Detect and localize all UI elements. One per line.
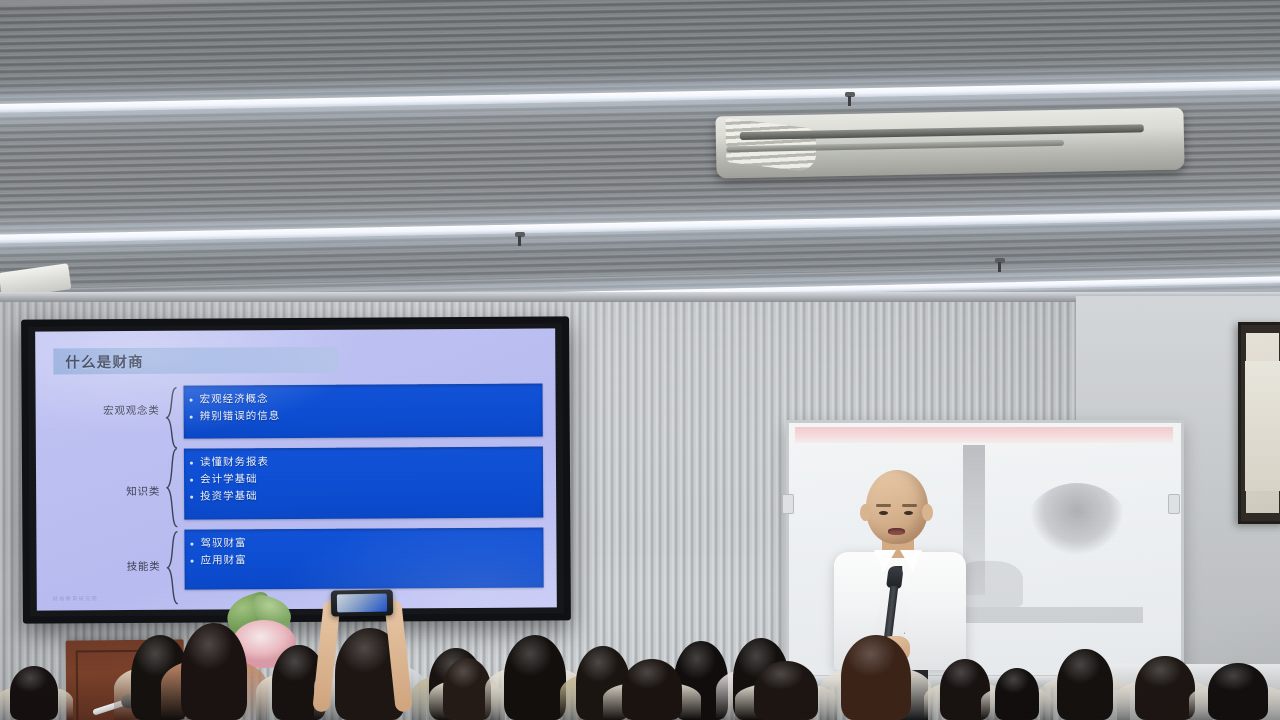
audience — [0, 560, 1280, 720]
whiteboard-clip-right — [1168, 494, 1180, 514]
attendee-hair — [181, 623, 247, 720]
slide-title-text: 什么是财商 — [53, 350, 144, 372]
presenter-eye-right — [904, 511, 913, 515]
slide-group-label-2: 知识类 — [64, 484, 160, 500]
attendee-hair — [995, 668, 1040, 720]
bullet-item: 驾驭财富 — [200, 533, 543, 552]
sprinkler-head-icon-3 — [995, 258, 1005, 272]
slide-bullets-1: 宏观经济概念 辨别错误的信息 — [183, 383, 542, 431]
slide-title-bar: 什么是财商 — [53, 347, 338, 375]
smartphone[interactable] — [331, 589, 393, 616]
lecture-hall-photo: 什么是财商 宏观观念类 宏观经济概念 辨别错误的信息 知识类 读懂财务报表 — [0, 0, 1280, 720]
brace-icon-2 — [166, 448, 179, 528]
attendee-15 — [1046, 634, 1124, 720]
presenter-mouth — [888, 528, 905, 535]
attendee-hair — [622, 659, 682, 720]
smartphone-screen — [337, 594, 387, 613]
slide-content-box-1: 宏观经济概念 辨别错误的信息 — [183, 383, 542, 438]
attendee-hair — [841, 635, 910, 720]
slide-group-label-1: 宏观观念类 — [64, 403, 160, 419]
presenter-ear-right — [922, 504, 933, 521]
attendee-hair — [1208, 663, 1268, 720]
bullet-item: 读懂财务报表 — [200, 452, 543, 471]
attendee-2 — [168, 602, 260, 720]
projection-pink-band — [795, 427, 1173, 443]
attendee-17 — [1196, 650, 1280, 720]
presenter-eye-left — [879, 511, 888, 515]
framed-picture — [1238, 322, 1280, 524]
attendee-hair — [1057, 649, 1113, 720]
attendee-10 — [610, 646, 694, 720]
attendee-11 — [742, 648, 830, 720]
attendee-12 — [828, 616, 924, 720]
slide-content-box-2: 读懂财务报表 会计学基础 投资学基础 — [184, 446, 543, 519]
attendee-hair — [754, 661, 817, 720]
picture-artwork — [1245, 361, 1280, 491]
brace-icon-1 — [165, 387, 178, 449]
presenter-brow-right — [902, 504, 917, 507]
ceiling — [0, 0, 1280, 300]
attendee-hair — [10, 666, 59, 720]
slide-bullets-2: 读懂财务报表 会计学基础 投资学基础 — [184, 446, 543, 511]
bullet-item: 会计学基础 — [200, 469, 543, 488]
attendee-hair — [443, 658, 491, 720]
attendee-14 — [986, 656, 1048, 720]
attendee-hair — [504, 635, 566, 720]
presenter-ear-left — [860, 504, 871, 521]
bullet-item: 投资学基础 — [200, 486, 543, 505]
bullet-item: 辨别错误的信息 — [200, 406, 543, 425]
attendee-18 — [0, 654, 68, 720]
bullet-item: 宏观经济概念 — [200, 389, 543, 408]
whiteboard-clip-left — [782, 494, 794, 514]
attendee-hair — [1135, 656, 1194, 720]
presenter-brow-left — [876, 504, 891, 507]
sprinkler-head-icon-1 — [845, 92, 855, 106]
sprinkler-head-icon-2 — [515, 232, 525, 246]
ceiling-air-conditioner — [715, 108, 1184, 179]
